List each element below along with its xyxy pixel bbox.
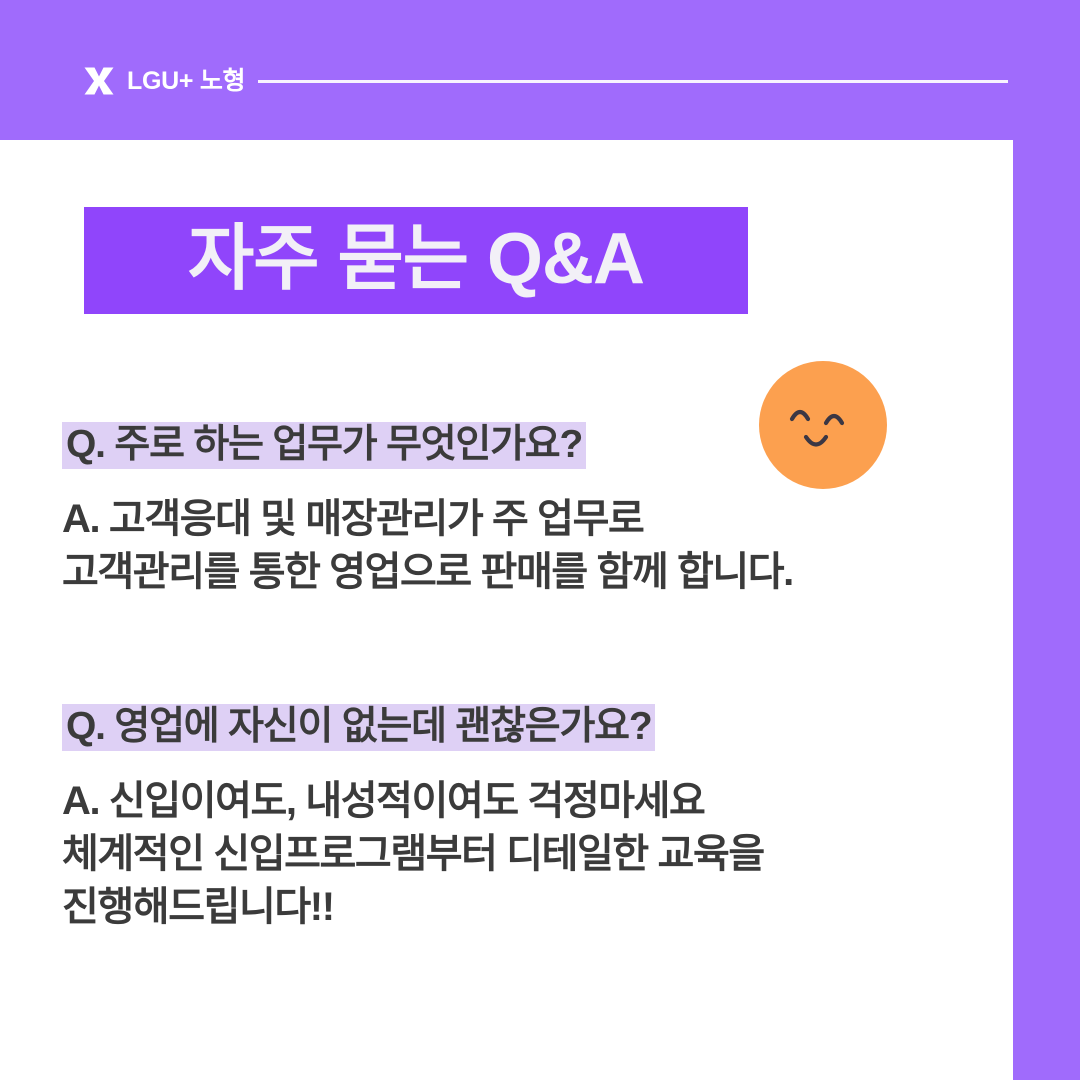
faq-answer-1: A. 고객응대 및 매장관리가 주 업무로 고객관리를 통한 영업으로 판매를 …: [62, 493, 793, 599]
faq-question-1: Q. 주로 하는 업무가 무엇인가요?: [62, 420, 586, 470]
faq-question-1-text: Q. 주로 하는 업무가 무엇인가요?: [62, 422, 586, 469]
faq-question-2: Q. 영업에 자신이 없는데 괜찮은가요?: [62, 702, 655, 752]
faq-answer-2: A. 신입이여도, 내성적이여도 걱정마세요 체계적인 신입프로그램부터 디테일…: [62, 775, 764, 933]
right-purple-strip: [1013, 0, 1080, 1080]
faq-list: Q. 주로 하는 업무가 무엇인가요? A. 고객응대 및 매장관리가 주 업무…: [0, 0, 1013, 1080]
faq-question-2-text: Q. 영업에 자신이 없는데 괜찮은가요?: [62, 704, 655, 751]
faq-card: LGU+ 노형 자주 묻는 Q&A Q. 주로 하는 업무가 무엇인가요? A.…: [0, 0, 1080, 1080]
